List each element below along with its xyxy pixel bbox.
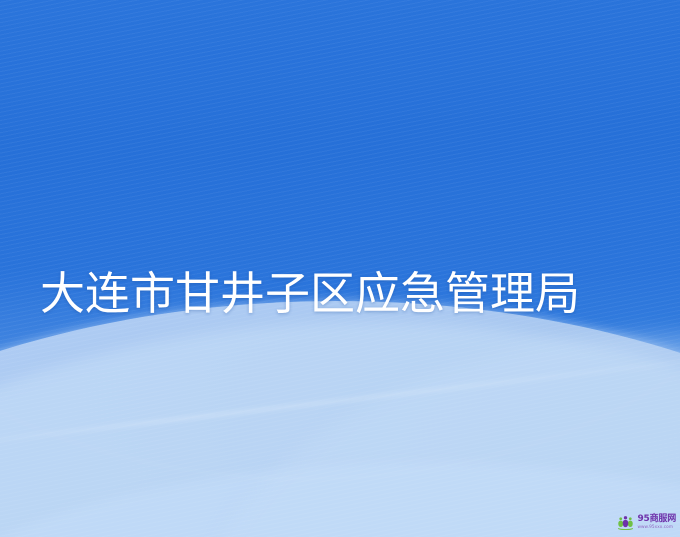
site-banner: 大连市甘井子区应急管理局 95商服网 www.95xxx.com bbox=[0, 0, 680, 537]
watermark-name: 95商服网 bbox=[637, 515, 676, 524]
page-title: 大连市甘井子区应急管理局 bbox=[40, 268, 580, 320]
watermark: 95商服网 www.95xxx.com bbox=[617, 514, 676, 531]
people-logo-icon bbox=[617, 514, 634, 531]
watermark-text-group: 95商服网 www.95xxx.com bbox=[637, 515, 676, 529]
watermark-url: www.95xxx.com bbox=[637, 525, 676, 529]
